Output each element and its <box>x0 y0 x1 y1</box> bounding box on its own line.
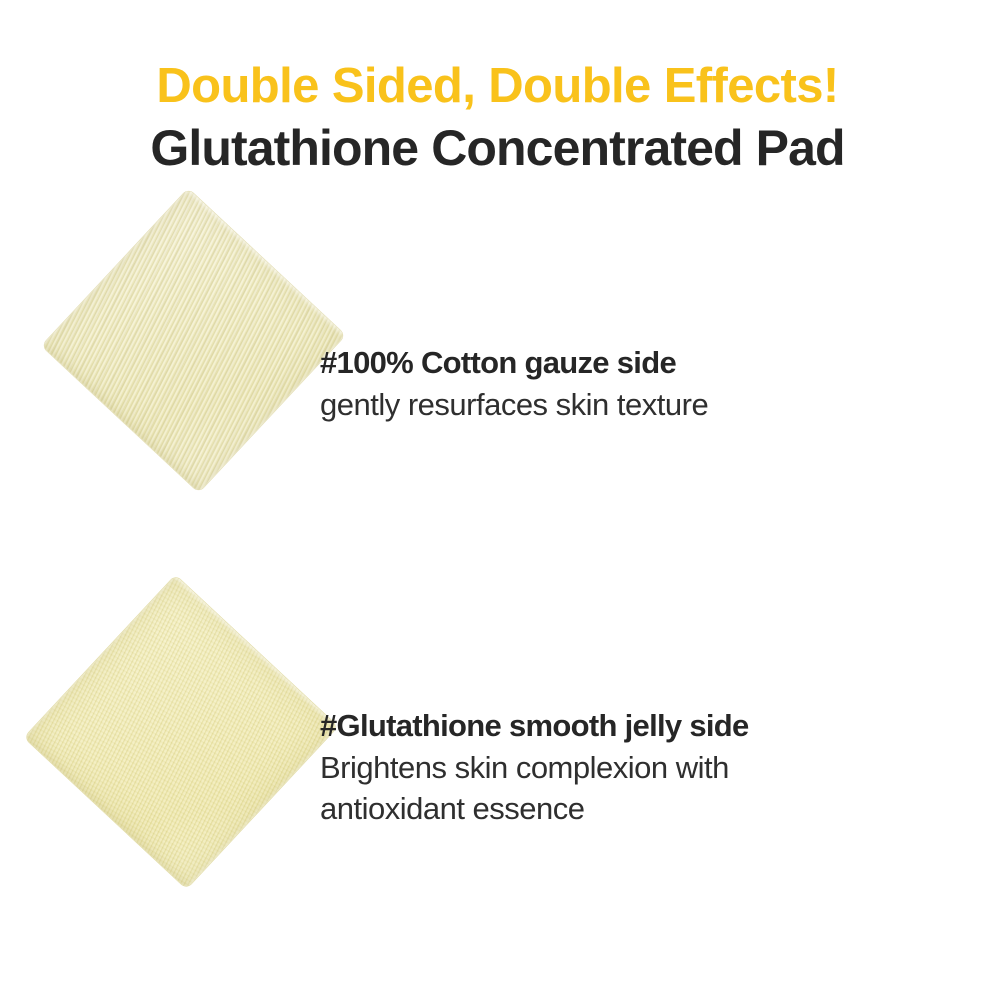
feature-copy-2: #Glutathione smooth jelly side Brightens… <box>320 707 980 830</box>
feature-row-cotton-gauze: #100% Cotton gauze side gently resurface… <box>0 205 995 565</box>
feature-body-cotton-gauze: gently resurfaces skin texture <box>320 385 965 426</box>
feature-body-line: antioxidant essence <box>320 789 965 830</box>
headline-accent: Double Sided, Double Effects! <box>0 58 995 116</box>
feature-body-line: gently resurfaces skin texture <box>320 385 965 426</box>
feature-row-glutathione-jelly: #Glutathione smooth jelly side Brightens… <box>0 595 995 955</box>
product-detail-page: Double Sided, Double Effects! Glutathion… <box>0 0 995 995</box>
feature-body-line: Brightens skin complexion with <box>320 748 965 789</box>
page-title: Glutathione Concentrated Pad <box>0 116 995 180</box>
feature-copy-1: #100% Cotton gauze side gently resurface… <box>320 344 980 426</box>
feature-title-glutathione-jelly: #Glutathione smooth jelly side <box>320 707 980 746</box>
cotton-gauze-pad-image <box>42 189 346 493</box>
feature-title-cotton-gauze: #100% Cotton gauze side <box>320 344 980 383</box>
feature-body-glutathione-jelly: Brightens skin complexion with antioxida… <box>320 748 965 830</box>
page-header: Double Sided, Double Effects! Glutathion… <box>0 58 995 180</box>
glutathione-jelly-pad-image <box>24 575 338 889</box>
